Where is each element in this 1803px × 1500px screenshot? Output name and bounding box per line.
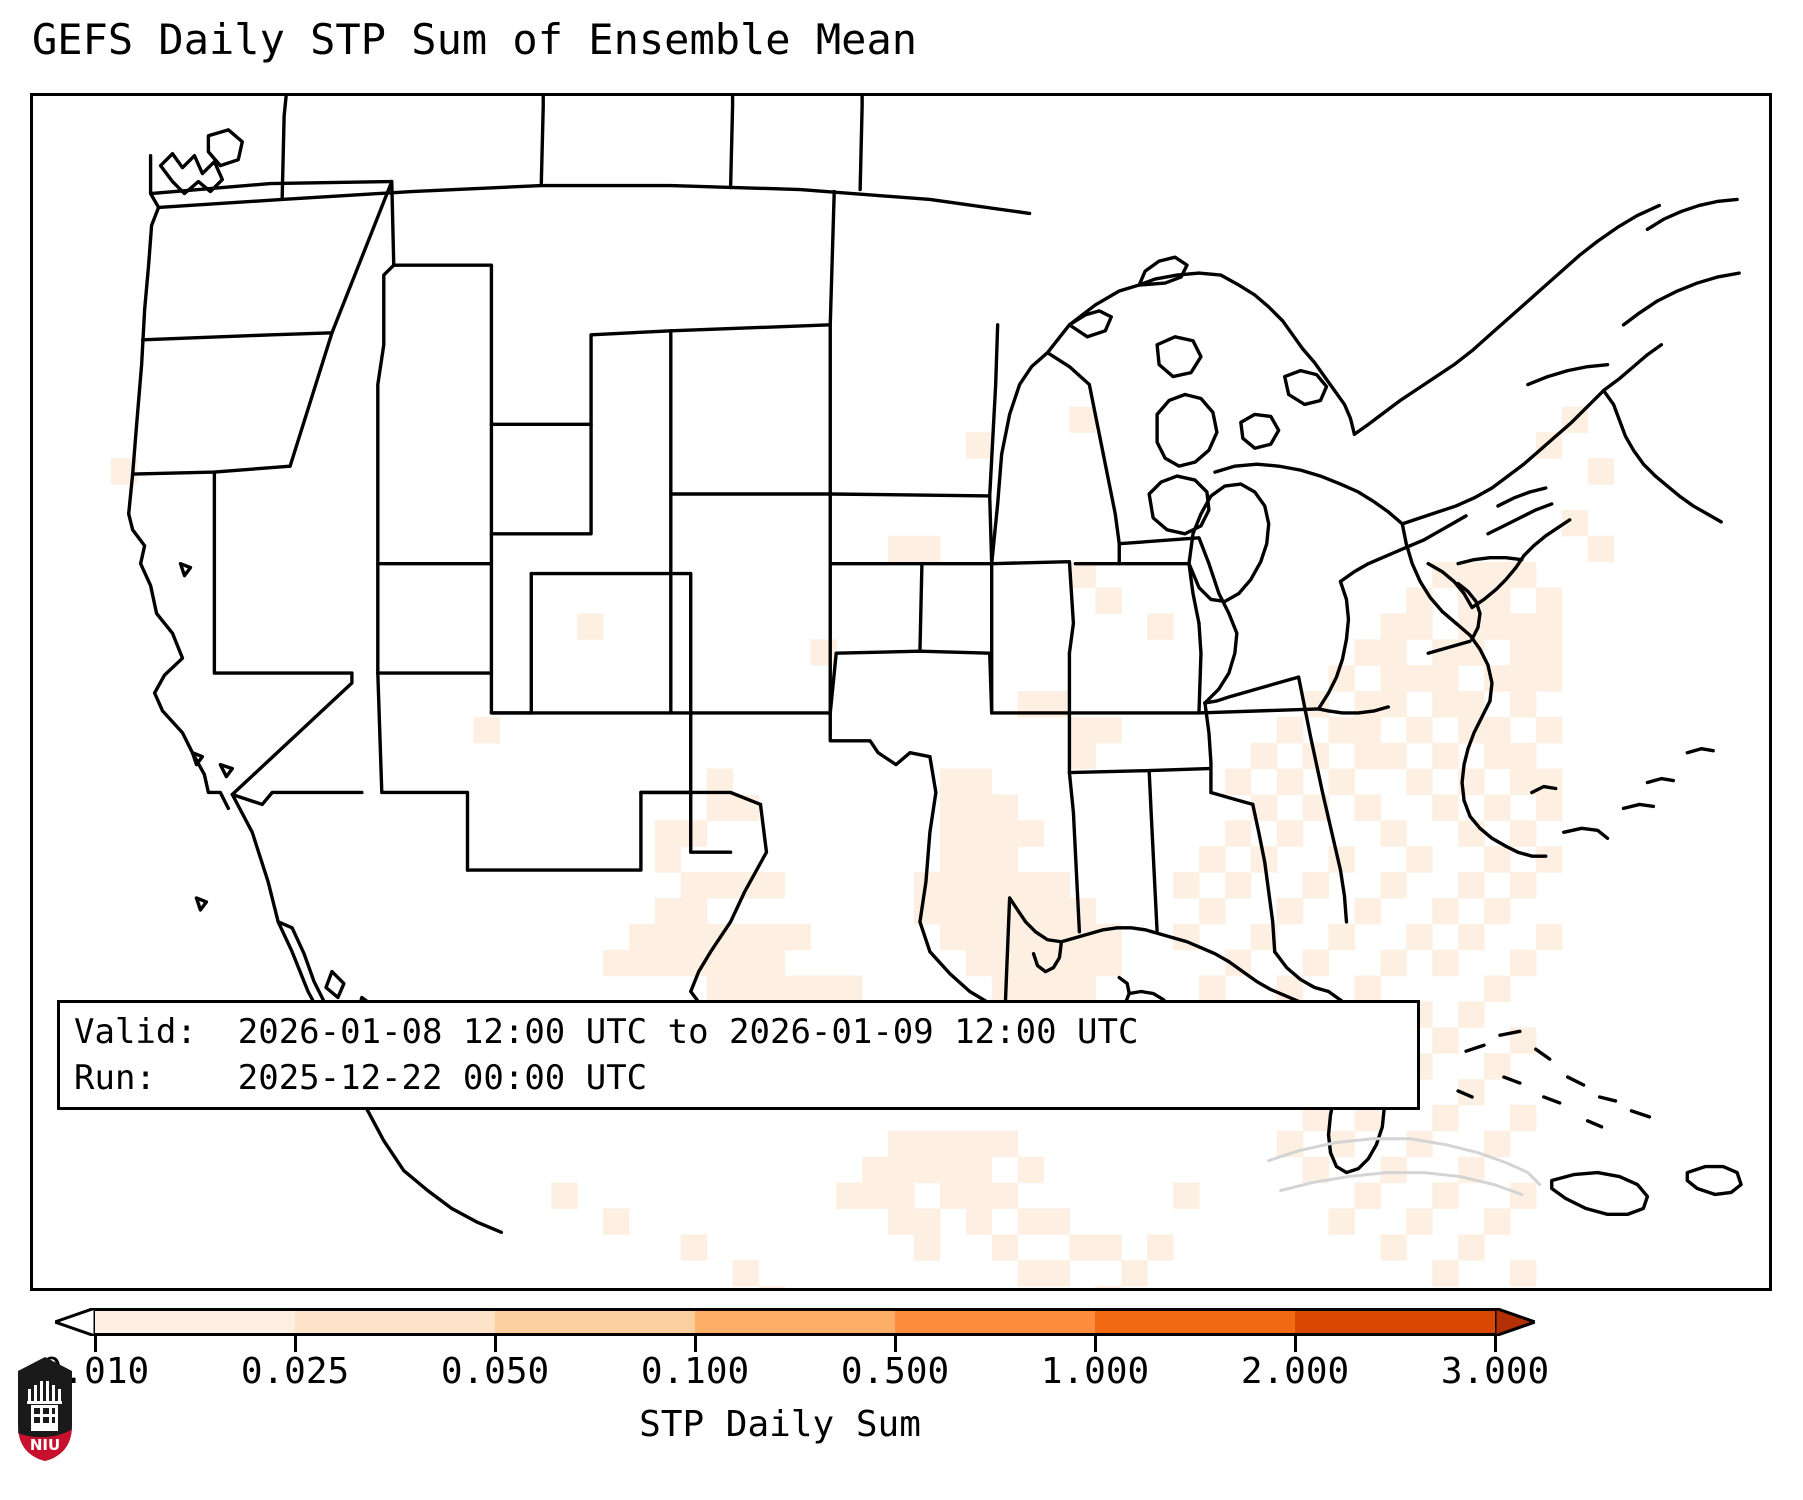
stp-grid-cell — [1303, 950, 1330, 976]
stp-grid-cell — [577, 613, 604, 639]
stp-grid-cell — [1018, 872, 1045, 898]
stp-grid-cell — [1199, 898, 1226, 924]
colorbar-extend-min-arrow — [55, 1308, 95, 1336]
stp-grid-cell — [966, 769, 993, 795]
stp-grid-cell — [1536, 717, 1563, 743]
stp-grid-cell — [1536, 665, 1563, 691]
stp-grid-cell — [1536, 794, 1563, 820]
colorbar-tick-label: 0.500 — [841, 1352, 949, 1392]
valid-time-line: Valid: 2026-01-08 12:00 UTC to 2026-01-0… — [74, 1009, 1403, 1055]
stp-grid-cell — [1147, 1234, 1174, 1260]
colorbar-segment — [895, 1311, 1095, 1333]
stp-grid-cell — [1484, 898, 1511, 924]
colorbar-label: STP Daily Sum — [0, 1403, 1560, 1447]
stp-grid-cell — [1484, 794, 1511, 820]
stp-grid-cell — [1510, 691, 1537, 717]
stp-grid-cell — [862, 1183, 889, 1209]
stp-grid-cell — [1536, 432, 1563, 458]
stp-grid-cell — [1406, 1208, 1433, 1234]
stp-grid-cell — [966, 1131, 993, 1157]
stp-grid-cell — [1510, 950, 1537, 976]
stp-grid-cell — [966, 898, 993, 924]
colorbar-tick-label: 0.100 — [641, 1352, 749, 1392]
stp-grid-cell — [1484, 613, 1511, 639]
stp-grid-cell — [733, 950, 760, 976]
stp-grid-cell — [681, 898, 708, 924]
stp-grid-cell — [1277, 717, 1304, 743]
colorbar: 0.0100.0250.0500.1000.5001.0002.0003.000 — [0, 1300, 1803, 1360]
stp-grid-cell — [1354, 1183, 1381, 1209]
colorbar-tick-label: 0.050 — [441, 1352, 549, 1392]
stp-grid-cell — [1380, 872, 1407, 898]
stp-grid-cell — [1354, 639, 1381, 665]
stp-grid-cell — [966, 846, 993, 872]
stp-grid-cell — [888, 1183, 915, 1209]
stp-grid-cell — [1018, 1208, 1045, 1234]
stp-grid-cell — [1380, 639, 1407, 665]
stp-grid-cell — [1044, 898, 1071, 924]
stp-grid-cell — [1147, 613, 1174, 639]
stp-grid-cell — [940, 872, 967, 898]
colorbar-tick — [1494, 1336, 1497, 1352]
stp-grid-cell — [1354, 898, 1381, 924]
stp-grid-cell — [1277, 820, 1304, 846]
stp-grid-cell — [1173, 1183, 1200, 1209]
stp-grid-cell — [1510, 665, 1537, 691]
stp-grid-cell — [940, 794, 967, 820]
stp-grid-cell — [1432, 691, 1459, 717]
colorbar-segment — [1095, 1311, 1295, 1333]
stp-grid-cell — [1510, 562, 1537, 588]
stp-grid-cell — [1588, 536, 1615, 562]
stp-grid-cell — [1432, 743, 1459, 769]
colorbar-tick-label: 2.000 — [1241, 1352, 1349, 1392]
stp-grid-cell — [681, 872, 708, 898]
stp-grid-cell — [1277, 769, 1304, 795]
stp-grid-cell — [1510, 639, 1537, 665]
niu-logo: NIU — [14, 1355, 76, 1463]
stp-grid-cell — [940, 846, 967, 872]
stp-grid-cell — [1329, 769, 1356, 795]
colorbar-extend-max-arrow — [1495, 1308, 1535, 1336]
stp-grid-cell — [940, 898, 967, 924]
stp-grid-cell — [1510, 1183, 1537, 1209]
colorbar-segment — [495, 1311, 695, 1333]
stp-grid-cell — [940, 769, 967, 795]
stp-grid-cell — [603, 1208, 630, 1234]
stp-grid-cell — [1329, 924, 1356, 950]
stp-grid-cell — [1484, 562, 1511, 588]
stp-grid-cell — [1406, 613, 1433, 639]
stp-grid-cell — [1406, 846, 1433, 872]
stp-shading-layer — [111, 406, 1614, 1288]
stp-grid-cell — [1536, 769, 1563, 795]
stp-grid-cell — [784, 976, 811, 1002]
stp-grid-cell — [940, 1157, 967, 1183]
stp-grid-cell — [1380, 743, 1407, 769]
stp-grid-cell — [655, 898, 682, 924]
stp-grid-cell — [1380, 950, 1407, 976]
stp-grid-cell — [1329, 1208, 1356, 1234]
colorbar-tick-label: 0.025 — [241, 1352, 349, 1392]
stp-grid-cell — [966, 1208, 993, 1234]
stp-grid-cell — [1199, 976, 1226, 1002]
stp-grid-cell — [1484, 743, 1511, 769]
stp-grid-cell — [1536, 588, 1563, 614]
colorbar-tick — [894, 1336, 897, 1352]
stp-grid-cell — [1484, 1053, 1511, 1079]
colorbar-tick — [94, 1336, 97, 1352]
stp-grid-cell — [914, 1131, 941, 1157]
stp-grid-cell — [1044, 872, 1071, 898]
stp-grid-cell — [784, 924, 811, 950]
stp-grid-cell — [1484, 588, 1511, 614]
stp-grid-cell — [1432, 665, 1459, 691]
stp-grid-cell — [681, 924, 708, 950]
stp-grid-cell — [1536, 639, 1563, 665]
stp-grid-cell — [681, 1234, 708, 1260]
stp-grid-cell — [940, 924, 967, 950]
stp-grid-cell — [1069, 406, 1096, 432]
stp-grid-cell — [1069, 717, 1096, 743]
stp-grid-cell — [1484, 717, 1511, 743]
page-title: GEFS Daily STP Sum of Ensemble Mean — [32, 14, 917, 66]
stp-grid-cell — [992, 924, 1019, 950]
stp-grid-cell — [758, 950, 785, 976]
stp-grid-cell — [551, 1183, 578, 1209]
stp-grid-cell — [1095, 1286, 1122, 1288]
stp-grid-cell — [733, 976, 760, 1002]
stp-grid-cell — [1303, 872, 1330, 898]
colorbar-tick — [294, 1336, 297, 1352]
stp-grid-cell — [733, 924, 760, 950]
colorbar-tick-label: 1.000 — [1041, 1352, 1149, 1392]
stp-grid-cell — [992, 1131, 1019, 1157]
stp-grid-cell — [966, 820, 993, 846]
stp-grid-cell — [1225, 820, 1252, 846]
stp-grid-cell — [1069, 976, 1096, 1002]
stp-grid-cell — [1018, 898, 1045, 924]
stp-grid-cell — [1069, 562, 1096, 588]
stp-grid-cell — [629, 924, 656, 950]
stp-grid-cell — [1095, 717, 1122, 743]
stp-grid-cell — [655, 846, 682, 872]
stp-grid-cell — [1406, 924, 1433, 950]
stp-grid-cell — [1354, 794, 1381, 820]
stp-grid-cell — [1380, 1234, 1407, 1260]
stp-grid-cell — [655, 820, 682, 846]
valid-run-info-box: Valid: 2026-01-08 12:00 UTC to 2026-01-0… — [57, 1000, 1420, 1110]
stp-grid-cell — [473, 717, 500, 743]
stp-grid-cell — [1277, 898, 1304, 924]
stp-grid-cell — [1458, 691, 1485, 717]
colorbar-tick — [1294, 1336, 1297, 1352]
stp-grid-cell — [1329, 717, 1356, 743]
stp-grid-cell — [1354, 976, 1381, 1002]
stp-grid-cell — [966, 794, 993, 820]
stp-grid-cell — [836, 1183, 863, 1209]
stp-grid-cell — [1510, 1260, 1537, 1286]
stp-grid-cell — [1018, 1260, 1045, 1286]
stp-grid-cell — [992, 1234, 1019, 1260]
stp-grid-cell — [1225, 769, 1252, 795]
stp-grid-cell — [1251, 743, 1278, 769]
stp-grid-cell — [1018, 820, 1045, 846]
stp-grid-cell — [1354, 743, 1381, 769]
colorbar-segment — [1295, 1311, 1495, 1333]
stp-grid-cell — [655, 950, 682, 976]
colorbar-segment — [695, 1311, 895, 1333]
stp-grid-cell — [1225, 872, 1252, 898]
stp-grid-cell — [1406, 769, 1433, 795]
stp-grid-cell — [707, 794, 734, 820]
stp-grid-cell — [1380, 1157, 1407, 1183]
stp-grid-cell — [1432, 1260, 1459, 1286]
stp-grid-cell — [1069, 950, 1096, 976]
stp-grid-cell — [888, 1208, 915, 1234]
stp-grid-cell — [1069, 898, 1096, 924]
stp-grid-cell — [758, 924, 785, 950]
stp-grid-cell — [1484, 976, 1511, 1002]
stp-grid-cell — [810, 639, 837, 665]
stp-grid-cell — [1458, 820, 1485, 846]
stp-grid-cell — [1406, 588, 1433, 614]
stp-grid-cell — [707, 976, 734, 1002]
stp-grid-cell — [1510, 743, 1537, 769]
stp-grid-cell — [1510, 1105, 1537, 1131]
stp-grid-cell — [992, 846, 1019, 872]
stp-grid-cell — [1432, 794, 1459, 820]
stp-grid-cell — [888, 536, 915, 562]
stp-grid-cell — [1095, 1234, 1122, 1260]
stp-grid-cell — [862, 1157, 889, 1183]
stp-grid-cell — [888, 1157, 915, 1183]
stp-grid-cell — [1121, 1260, 1148, 1286]
stp-grid-cell — [1173, 872, 1200, 898]
stp-grid-cell — [758, 1286, 785, 1288]
stp-grid-cell — [1199, 846, 1226, 872]
stp-grid-cell — [1044, 924, 1071, 950]
stp-grid-cell — [1536, 613, 1563, 639]
run-time-line: Run: 2025-12-22 00:00 UTC — [74, 1055, 1403, 1101]
stp-grid-cell — [1484, 1131, 1511, 1157]
stp-grid-cell — [1018, 976, 1045, 1002]
stp-grid-cell — [1510, 820, 1537, 846]
stp-grid-cell — [1432, 1027, 1459, 1053]
stp-grid-cell — [1458, 1001, 1485, 1027]
stp-grid-cell — [810, 976, 837, 1002]
stp-grid-cell — [940, 1131, 967, 1157]
stp-grid-cell — [1380, 820, 1407, 846]
stp-grid-cell — [1432, 1105, 1459, 1131]
stp-grid-cell — [603, 950, 630, 976]
stp-grid-cell — [914, 536, 941, 562]
colorbar-segment — [295, 1311, 495, 1333]
stp-grid-cell — [1069, 1234, 1096, 1260]
stp-grid-cell — [1588, 458, 1615, 484]
stp-grid-cell — [1458, 924, 1485, 950]
stp-grid-cell — [1510, 872, 1537, 898]
colorbar-segment — [95, 1311, 295, 1333]
stp-grid-cell — [1018, 950, 1045, 976]
stp-grid-cell — [836, 976, 863, 1002]
stp-grid-cell — [758, 976, 785, 1002]
stp-grid-cell — [758, 872, 785, 898]
stp-grid-cell — [1044, 1208, 1071, 1234]
stp-grid-cell — [1044, 1260, 1071, 1286]
stp-grid-cell — [1458, 1234, 1485, 1260]
stp-grid-cell — [992, 794, 1019, 820]
stp-grid-cell — [1458, 872, 1485, 898]
stp-grid-cell — [1536, 924, 1563, 950]
stp-grid-cell — [992, 820, 1019, 846]
stp-grid-cell — [1406, 1131, 1433, 1157]
stp-grid-cell — [1510, 613, 1537, 639]
stp-grid-cell — [1484, 1208, 1511, 1234]
stp-grid-cell — [914, 1234, 941, 1260]
stp-grid-cell — [629, 950, 656, 976]
stp-grid-cell — [1044, 976, 1071, 1002]
stp-grid-cell — [655, 924, 682, 950]
stp-grid-cell — [707, 872, 734, 898]
stp-grid-cell — [1380, 665, 1407, 691]
colorbar-tick — [694, 1336, 697, 1352]
stp-grid-cell — [1018, 1157, 1045, 1183]
stp-grid-cell — [1406, 665, 1433, 691]
stp-grid-cell — [1069, 743, 1096, 769]
stp-grid-cell — [966, 924, 993, 950]
stp-grid-cell — [966, 872, 993, 898]
niu-banner-text: NIU — [30, 1436, 60, 1454]
stp-grid-cell — [966, 950, 993, 976]
stp-grid-cell — [914, 898, 941, 924]
stp-grid-cell — [1406, 717, 1433, 743]
colorbar-tick — [494, 1336, 497, 1352]
colorbar-gradient — [95, 1308, 1495, 1336]
stp-grid-cell — [888, 1131, 915, 1157]
stp-grid-cell — [1432, 1183, 1459, 1209]
stp-grid-cell — [1095, 588, 1122, 614]
stp-grid-cell — [1354, 717, 1381, 743]
stp-grid-cell — [914, 1208, 941, 1234]
stp-grid-cell — [1380, 691, 1407, 717]
stp-grid-cell — [966, 432, 993, 458]
figure-root: GEFS Daily STP Sum of Ensemble Mean — [0, 0, 1803, 1500]
stp-grid-cell — [992, 1183, 1019, 1209]
stp-grid-cell — [992, 872, 1019, 898]
stp-grid-cell — [940, 1183, 967, 1209]
stp-grid-cell — [966, 1183, 993, 1209]
colorbar-tick-label: 3.000 — [1441, 1352, 1549, 1392]
map-panel — [30, 93, 1772, 1291]
stp-grid-cell — [914, 1157, 941, 1183]
stp-grid-cell — [1458, 562, 1485, 588]
stp-grid-cell — [1432, 898, 1459, 924]
stp-grid-cell — [966, 1157, 993, 1183]
stp-grid-cell — [733, 1260, 760, 1286]
stp-grid-cell — [1095, 950, 1122, 976]
stp-grid-cell — [1432, 950, 1459, 976]
stp-grid-cell — [940, 820, 967, 846]
stp-grid-cell — [1484, 846, 1511, 872]
stp-grid-cell — [1536, 846, 1563, 872]
colorbar-tick — [1094, 1336, 1097, 1352]
stp-grid-cell — [681, 820, 708, 846]
stp-grid-cell — [1380, 613, 1407, 639]
